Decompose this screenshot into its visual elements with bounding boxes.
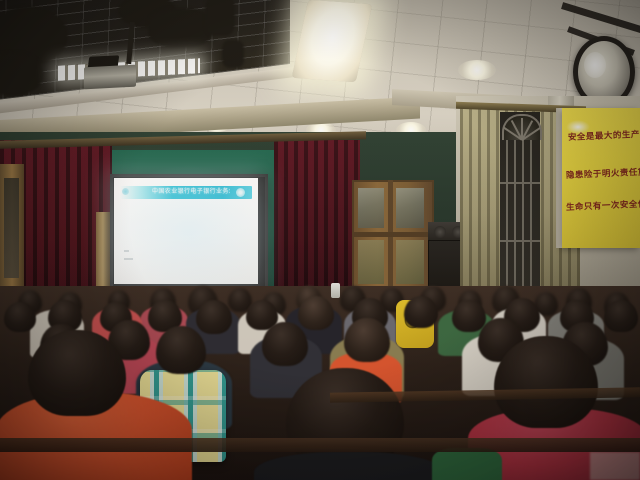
window-bar <box>500 182 540 184</box>
audience-head <box>196 300 232 334</box>
window-arch-grille <box>502 114 542 140</box>
audience-head <box>344 318 390 362</box>
audience-head <box>28 330 126 416</box>
ceiling-projector <box>84 65 136 90</box>
audience-head <box>156 326 206 374</box>
slide-body-line <box>124 250 129 252</box>
raised-phone <box>331 283 340 298</box>
window-bar <box>506 140 508 300</box>
cabinet-glass-pane <box>358 188 384 228</box>
cabinet-rail <box>352 232 430 237</box>
slide-title: 中国农业银行电子银行业务介绍 <box>152 187 230 198</box>
ceiling-fan-icon <box>148 8 212 48</box>
paper-sheet <box>590 452 640 480</box>
audience-body <box>254 452 444 480</box>
photo-scene: 中国农业银行电子银行业务介绍 安全是最大的生产力 隐患险于明火责任重于泰山 生命… <box>0 0 640 480</box>
slide-logo-icon <box>236 188 245 197</box>
window-bar <box>530 140 532 300</box>
banner-line-2: 隐患险于明火责任重于泰山 <box>566 167 640 181</box>
recessed-downlight <box>458 60 496 80</box>
window-bar <box>500 240 540 242</box>
audience-head <box>604 300 638 332</box>
window-bar <box>514 140 516 300</box>
slide-logo-left-icon <box>122 188 129 195</box>
desk-row <box>0 438 640 452</box>
ceiling-mount-icon <box>222 40 244 68</box>
door-glass-pane <box>4 178 19 278</box>
audience-head <box>494 336 598 428</box>
audience-head <box>262 322 308 366</box>
banner-line-3: 生命只有一次安全伴君一生 <box>566 199 640 213</box>
audience-head <box>4 302 36 332</box>
cabinet-glass-pane <box>396 240 424 284</box>
cabinet-glass-pane <box>358 240 384 284</box>
clock-glare <box>584 52 606 78</box>
cabinet-glass-pane <box>396 188 424 228</box>
slide-body-line <box>124 258 133 260</box>
audience-body <box>432 448 502 480</box>
banner-glare <box>566 120 590 134</box>
speaker-cone-icon <box>434 226 446 238</box>
window-bar <box>522 140 524 300</box>
ceiling-mount-icon <box>205 0 235 36</box>
audience-head <box>298 296 334 330</box>
audience-head <box>452 300 486 332</box>
maroon-stage-curtain-right <box>274 140 360 305</box>
audience-head <box>404 296 438 328</box>
